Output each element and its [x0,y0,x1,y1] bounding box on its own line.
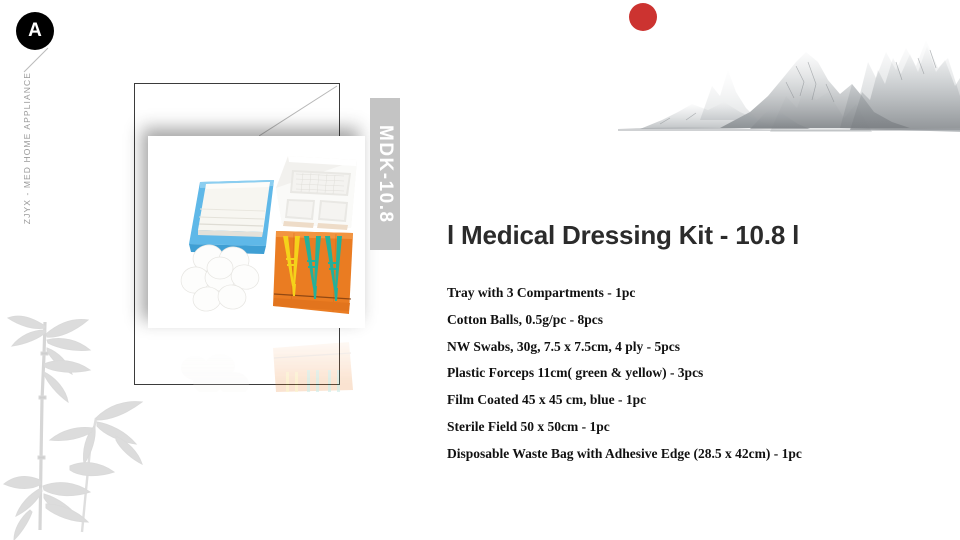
product-photo-card [148,136,365,328]
tray-3-compartments [276,156,357,230]
model-code-tab: MDK-10.8 [370,98,400,250]
spec-item: NW Swabs, 30g, 7.5 x 7.5cm, 4 ply - 5pcs [447,334,917,361]
bamboo-watermark-art [0,260,150,540]
frame-diagonal-line-icon [259,84,339,138]
brand-vertical-label: ZJYX - MED HOME APPLIANCE [16,72,38,252]
nw-swabs [198,182,270,237]
product-spec-list: Tray with 3 Compartments - 1pc Cotton Ba… [447,280,917,468]
spec-item: Cotton Balls, 0.5g/pc - 8pcs [447,307,917,334]
product-photo [148,136,365,328]
brand-badge-letter: A [28,20,42,42]
brand-vertical-text: ZJYX - MED HOME APPLIANCE [22,72,32,224]
product-info-panel: l Medical Dressing Kit - 10.8 l Tray wit… [447,218,917,468]
model-code-text: MDK-10.8 [374,125,396,224]
spec-item: Tray with 3 Compartments - 1pc [447,280,917,307]
product-title: l Medical Dressing Kit - 10.8 l [447,218,917,252]
spec-item: Plastic Forceps 11cm( green & yellow) - … [447,360,917,387]
brand-diagonal-line-icon [22,46,50,74]
brand-badge-logo: A [16,12,54,50]
spec-item: Disposable Waste Bag with Adhesive Edge … [447,441,917,468]
spec-item: Sterile Field 50 x 50cm - 1pc [447,414,917,441]
spec-item: Film Coated 45 x 45 cm, blue - 1pc [447,387,917,414]
mountain-ink-art [600,0,960,180]
red-sun-icon [629,3,657,31]
